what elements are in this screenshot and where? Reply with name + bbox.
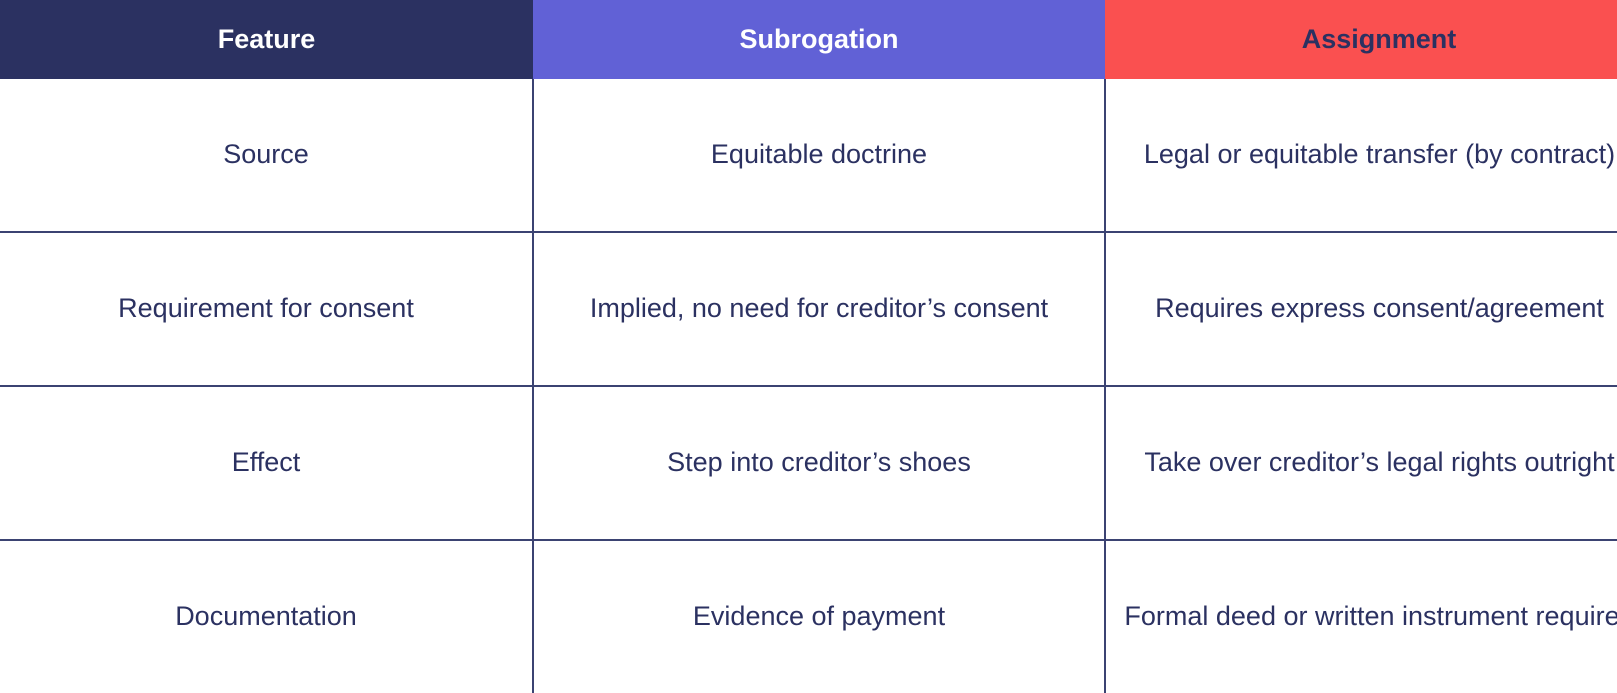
cell-assignment: Requires express consent/agreement [1105,232,1617,386]
column-header-subrogation: Subrogation [533,0,1105,79]
cell-feature: Effect [0,386,533,540]
cell-subrogation: Implied, no need for creditor’s consent [533,232,1105,386]
table-body: Source Equitable doctrine Legal or equit… [0,79,1617,693]
cell-feature: Source [0,79,533,232]
table-row: Source Equitable doctrine Legal or equit… [0,79,1617,232]
cell-subrogation: Evidence of payment [533,540,1105,693]
column-header-feature: Feature [0,0,533,79]
cell-subrogation: Equitable doctrine [533,79,1105,232]
cell-feature: Requirement for consent [0,232,533,386]
table-row: Effect Step into creditor’s shoes Take o… [0,386,1617,540]
cell-feature: Documentation [0,540,533,693]
table-header: Feature Subrogation Assignment [0,0,1617,79]
cell-assignment: Legal or equitable transfer (by contract… [1105,79,1617,232]
table-row: Documentation Evidence of payment Formal… [0,540,1617,693]
column-header-assignment: Assignment [1105,0,1617,79]
feature-comparison-table: Feature Subrogation Assignment Source Eq… [0,0,1617,693]
cell-subrogation: Step into creditor’s shoes [533,386,1105,540]
header-row: Feature Subrogation Assignment [0,0,1617,79]
table-row: Requirement for consent Implied, no need… [0,232,1617,386]
cell-assignment: Take over creditor’s legal rights outrig… [1105,386,1617,540]
cell-assignment: Formal deed or written instrument requir… [1105,540,1617,693]
